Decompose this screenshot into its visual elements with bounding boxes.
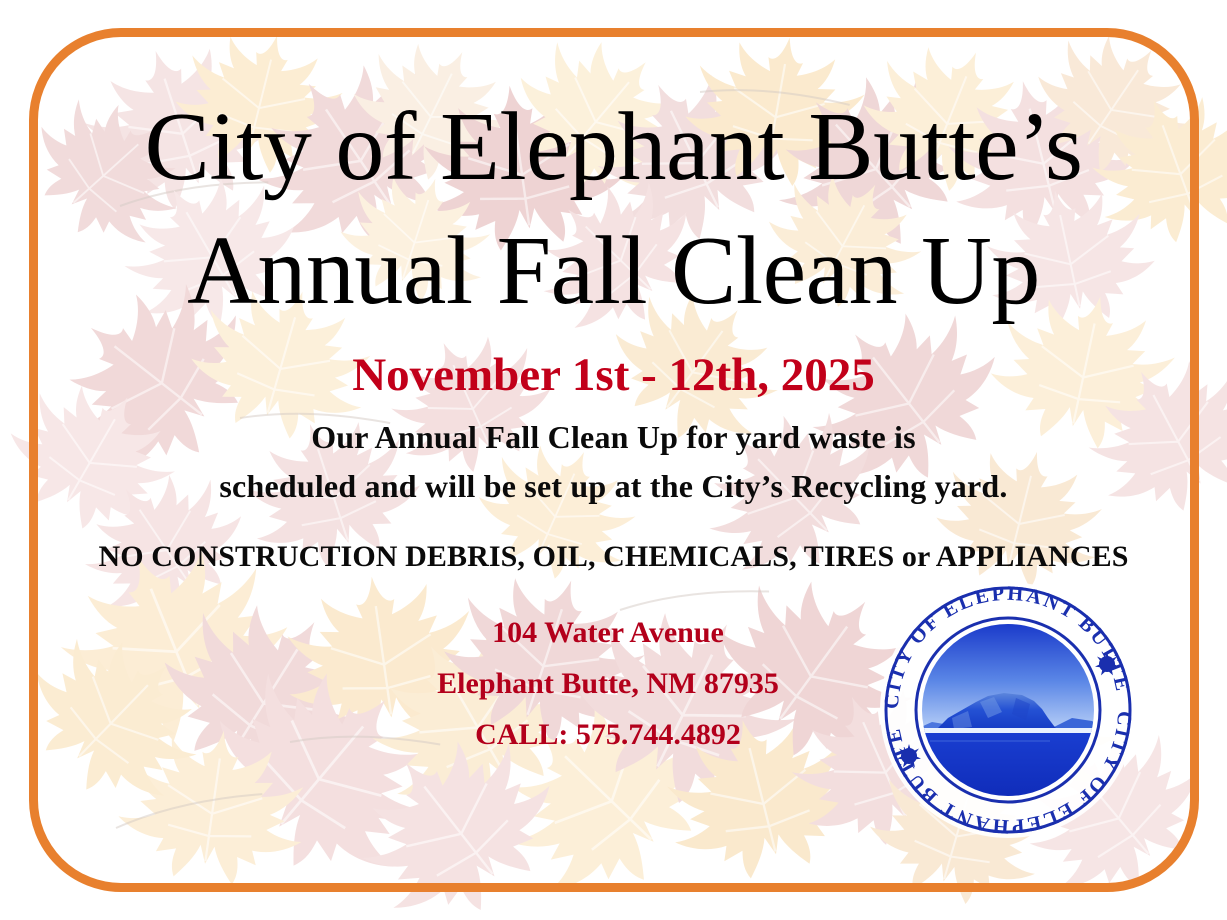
contact-phone: CALL: 575.744.4892 xyxy=(328,720,888,750)
event-date-range: November 1st - 12th, 2025 xyxy=(0,348,1227,402)
address-city-state-zip: Elephant Butte, NM 87935 xyxy=(328,669,888,699)
prohibited-items-notice: NO CONSTRUCTION DEBRIS, OIL, CHEMICALS, … xyxy=(0,540,1227,574)
contact-address-block: 104 Water Avenue Elephant Butte, NM 8793… xyxy=(328,618,888,750)
city-seal-logo: CITY OF ELEPHANT BUTTE CITY OF ELEPHANT … xyxy=(876,578,1140,842)
description-line-1: Our Annual Fall Clean Up for yard waste … xyxy=(0,419,1227,456)
address-street: 104 Water Avenue xyxy=(328,618,888,648)
poster-title-line-2: Annual Fall Clean Up xyxy=(0,222,1227,320)
description-line-2: scheduled and will be set up at the City… xyxy=(0,468,1227,505)
poster-title-line-1: City of Elephant Butte’s xyxy=(0,98,1227,196)
flyer-poster: City of Elephant Butte’s Annual Fall Cle… xyxy=(0,0,1227,920)
